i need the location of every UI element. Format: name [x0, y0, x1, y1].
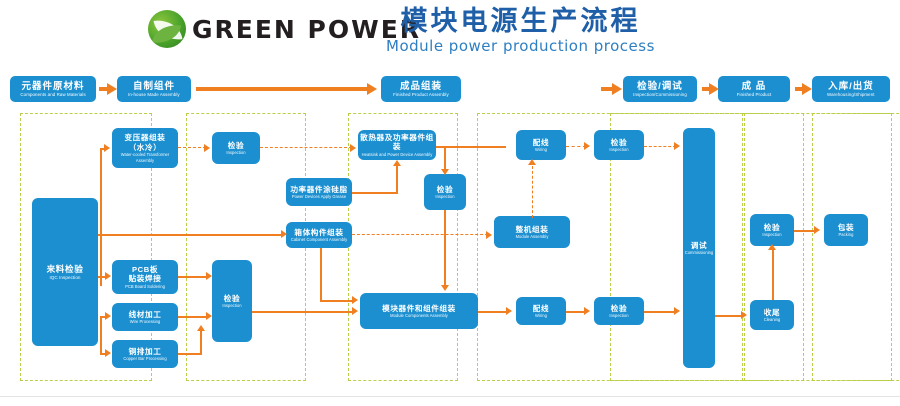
conn-arrow-commissioning-top: [674, 142, 680, 150]
box-label-en: Wiring: [535, 147, 547, 152]
box-copper-bar-processing[interactable]: 铜排加工 Copper Bar Processing: [112, 340, 178, 368]
conn-cabinet-down: [320, 248, 322, 300]
box-label-cn: 功率器件涂硅脂: [290, 185, 347, 195]
box-iqc-inspection[interactable]: 来料检验 IQC Inspection: [32, 198, 98, 346]
box-transformer-assembly[interactable]: 变压器组装 （水冷） Water-cooled Transformer Asse…: [112, 128, 178, 168]
conn-inspection3-down: [444, 210, 446, 286]
conn-arrow-inspection2-3: [197, 325, 205, 331]
box-label-en: Inspection: [222, 303, 241, 308]
box-label-cn: 散热器及功率器件组装: [360, 133, 434, 152]
stage-chip-finished-product: 成 品 Finished Product: [718, 76, 790, 102]
conn-module-assembly-up: [532, 166, 533, 218]
stage-chip-inspection-commissioning: 检验/调试 Inspection/Commissioning: [623, 76, 697, 102]
box-label-en: PCB Board Soldering: [125, 284, 165, 289]
box-label-en: Inspection: [609, 147, 628, 152]
box-label-cn: 变压器组装: [125, 133, 166, 143]
stage-label-en: In-house Made Assembly: [128, 92, 180, 98]
conn-arrow-inspection2-2: [206, 312, 212, 320]
conn-grease-right: [352, 192, 398, 194]
box-wire-processing[interactable]: 线材加工 Wire Processing: [112, 303, 178, 331]
box-label-en: IQC Inspection: [49, 275, 80, 281]
conn-arrow-cabinet: [281, 230, 287, 238]
conn-cabinet-to-module: [320, 300, 354, 302]
box-label-cn: 来料检验: [47, 264, 84, 275]
box-label-cn: 检验: [611, 304, 627, 314]
box-inspection-transformer[interactable]: 检验 Inspection: [212, 132, 260, 164]
box-pcb-soldering[interactable]: PCB板 贴装焊接 PCB Board Soldering: [112, 260, 178, 294]
box-label-en: Wiring: [535, 313, 547, 318]
box-wiring-bottom[interactable]: 配线 Wiring: [516, 297, 566, 325]
conn-pcb-to-inspection2: [178, 276, 208, 278]
stage-label-cn: 成 品: [742, 81, 767, 92]
box-label-cn: 调试: [691, 241, 707, 251]
box-cleaning[interactable]: 收尾 Cleaning: [750, 300, 794, 330]
box-label-cn: 包装: [838, 223, 854, 233]
box-wiring-top[interactable]: 配线 Wiring: [516, 130, 566, 160]
conn-arrow-heatsink: [350, 144, 356, 152]
conn-arrow-copper: [105, 349, 111, 357]
stage-label-en: Components and Raw Materials: [20, 92, 85, 98]
conn-grease-riser: [396, 166, 398, 193]
conn-arrow-module-components-1: [352, 296, 358, 304]
conn-arrow-wiring-bottom: [506, 307, 512, 315]
box-label-cn: 模块器件和组件组装: [382, 304, 456, 314]
conn-arrow-pcb: [105, 272, 111, 280]
stage-arrow-2-head: [367, 83, 377, 95]
stage-label-cn: 入库/出货: [828, 81, 874, 92]
box-label-cn: 铜排加工: [129, 347, 162, 357]
box-module-assembly[interactable]: 整机组装 Module Assembly: [494, 216, 570, 248]
box-label-cn: 配线: [533, 138, 549, 148]
conn-arrow-wire: [105, 312, 111, 320]
page-title-en: Module power production process: [386, 36, 655, 56]
stage-label-en: Inspection/Commissioning: [633, 92, 687, 98]
box-label-cn: 线材加工: [129, 310, 162, 320]
stage-label-en: Finished Product Assembly: [393, 92, 449, 98]
box-packing[interactable]: 包装 Packing: [824, 214, 868, 246]
box-inspection-heatsink[interactable]: 检验 Inspection: [424, 174, 466, 210]
conn-wiring-top-to-inspection-top: [566, 146, 586, 147]
box-inspection-subassembly[interactable]: 检验 Inspection: [212, 260, 252, 342]
green-leaf-globe-icon: [148, 10, 186, 48]
box-label-cn2: 贴装焊接: [129, 274, 162, 284]
box-inspection-wiring-top[interactable]: 检验 Inspection: [594, 130, 644, 160]
conn-iqc-to-cabinet: [98, 234, 284, 236]
conn-inspection-bottom-to-commissioning: [644, 311, 676, 313]
box-module-components-assembly[interactable]: 模块器件和组件组装 Module Components Assembly: [360, 293, 478, 329]
stage-arrow-3-head: [612, 83, 622, 95]
conn-arrow-cleaning: [741, 311, 747, 319]
box-label-en: Module Components Assembly: [390, 313, 448, 318]
box-label-en: Inspection: [762, 232, 781, 237]
conn-wiring-to-inspection-bottom: [566, 311, 586, 313]
conn-inspection2-to-module: [252, 311, 352, 313]
conn-arrow-inspection-bottom: [584, 307, 590, 315]
box-label-cn: 检验: [611, 138, 627, 148]
stage-label-en: Finished Product: [737, 92, 772, 98]
stage-label-cn: 自制组件: [133, 81, 175, 92]
flowchart-page: GREEN POWER 模块电源生产流程 Module power produc…: [0, 0, 900, 406]
lane-warehousing: [812, 113, 892, 381]
conn-commissioning-to-cleaning: [715, 315, 743, 317]
box-label-en: Copper Bar Processing: [123, 356, 166, 361]
box-label-cn: 检验: [437, 185, 453, 195]
box-label-cn2: （水冷）: [129, 143, 162, 153]
conn-arrow-transformer: [104, 144, 110, 152]
conn-arrow-inspection2-1: [206, 272, 212, 280]
box-label-cn: 检验: [224, 294, 240, 304]
conn-arrow-module-assembly-left: [486, 231, 492, 239]
conn-inspection-top-to-commissioning: [644, 146, 676, 147]
box-label-en: Commissioning: [685, 250, 714, 255]
box-label-cn: 配线: [533, 304, 549, 314]
box-label-en: Module Assembly: [516, 234, 549, 239]
box-label-en: Power Devices Apply Grease: [292, 194, 346, 199]
conn-copper-right: [178, 353, 202, 355]
box-label-cn: 整机组装: [516, 225, 549, 235]
box-label-en: Inspection: [226, 150, 245, 155]
box-heatsink-power-device-assembly[interactable]: 散热器及功率器件组装 Heatsink and Power Device Ass…: [358, 130, 436, 160]
conn-arrow-inspection-top: [584, 142, 590, 150]
stage-chip-warehousing: 入库/出货 Warehousing/Shipment: [812, 76, 890, 102]
conn-arrow-module-components-3: [352, 307, 358, 315]
stage-label-cn: 元器件原材料: [21, 81, 84, 92]
stage-arrow-2: [196, 87, 368, 91]
box-label-cn: 检验: [228, 141, 244, 151]
box-label-en: Water-cooled Transformer Assembly: [114, 152, 176, 163]
box-label-en: Heatsink and Power Device Assembly: [362, 152, 433, 157]
stage-label-en: Warehousing/Shipment: [827, 92, 875, 98]
stage-chip-inhouse: 自制组件 In-house Made Assembly: [117, 76, 191, 102]
page-title-cn: 模块电源生产流程: [386, 6, 655, 36]
stage-arrow-5-head: [802, 83, 812, 95]
box-label-cn: 检验: [764, 223, 780, 233]
conn-arrow-inspection-final: [768, 244, 776, 250]
box-label-cn: PCB板: [132, 265, 158, 275]
box-label-cn: 收尾: [764, 308, 780, 318]
box-label-en: Inspection: [609, 313, 628, 318]
stage-label-cn: 检验/调试: [637, 81, 683, 92]
stage-arrow-1-head: [107, 83, 117, 95]
conn-arrow-wiring-top: [528, 159, 536, 165]
conn-copper-riser: [200, 330, 202, 354]
box-label-en: Inspection: [435, 194, 454, 199]
conn-arrow-module-components-2: [441, 285, 449, 291]
box-label-en: Packing: [839, 232, 854, 237]
box-inspection-final[interactable]: 检验 Inspection: [750, 214, 794, 246]
page-title: 模块电源生产流程 Module power production process: [386, 6, 655, 56]
page-header: GREEN POWER 模块电源生产流程 Module power produc…: [0, 0, 900, 66]
conn-arrow-inspection1: [204, 144, 210, 152]
box-apply-grease[interactable]: 功率器件涂硅脂 Power Devices Apply Grease: [286, 178, 352, 206]
conn-arrow-inspection3: [441, 169, 449, 175]
conn-iqc-down: [100, 316, 102, 354]
conn-inspection1-to-heatsink: [260, 147, 352, 148]
conn-module-to-wiring-bottom: [478, 311, 508, 313]
box-label-en: Wire Processing: [130, 319, 161, 324]
stage-arrow-4-head: [709, 83, 719, 95]
conn-wire-to-inspection2: [178, 316, 208, 318]
conn-arrow-commissioning-bottom: [674, 307, 680, 315]
brand-logo: GREEN POWER: [148, 10, 421, 48]
box-label-en: Cleaning: [764, 317, 781, 322]
box-commissioning[interactable]: 调试 Commissioning: [683, 128, 715, 368]
footer-divider: [0, 396, 900, 397]
box-label-cn: 箱体构件组装: [294, 228, 343, 238]
box-cabinet-component-assembly[interactable]: 箱体构件组装 Cabinet Component Assembly: [286, 222, 352, 248]
conn-cleaning-up: [772, 250, 774, 300]
conn-cabinet-to-module-assembly: [352, 234, 488, 235]
conn-arrow-grease-up: [393, 160, 401, 166]
conn-iqc-riser: [100, 148, 102, 286]
conn-heatsink-right: [436, 146, 506, 148]
stage-chip-finished-assembly: 成品组装 Finished Product Assembly: [381, 76, 461, 102]
conn-inspection-final-to-packing: [794, 230, 816, 232]
box-inspection-wiring-bottom[interactable]: 检验 Inspection: [594, 297, 644, 325]
box-label-en: Cabinet Component Assembly: [291, 237, 347, 242]
conn-arrow-packing: [814, 226, 820, 234]
stage-chip-components: 元器件原材料 Components and Raw Materials: [10, 76, 96, 102]
stage-label-cn: 成品组装: [400, 81, 442, 92]
conn-transformer-to-inspection: [178, 147, 206, 148]
